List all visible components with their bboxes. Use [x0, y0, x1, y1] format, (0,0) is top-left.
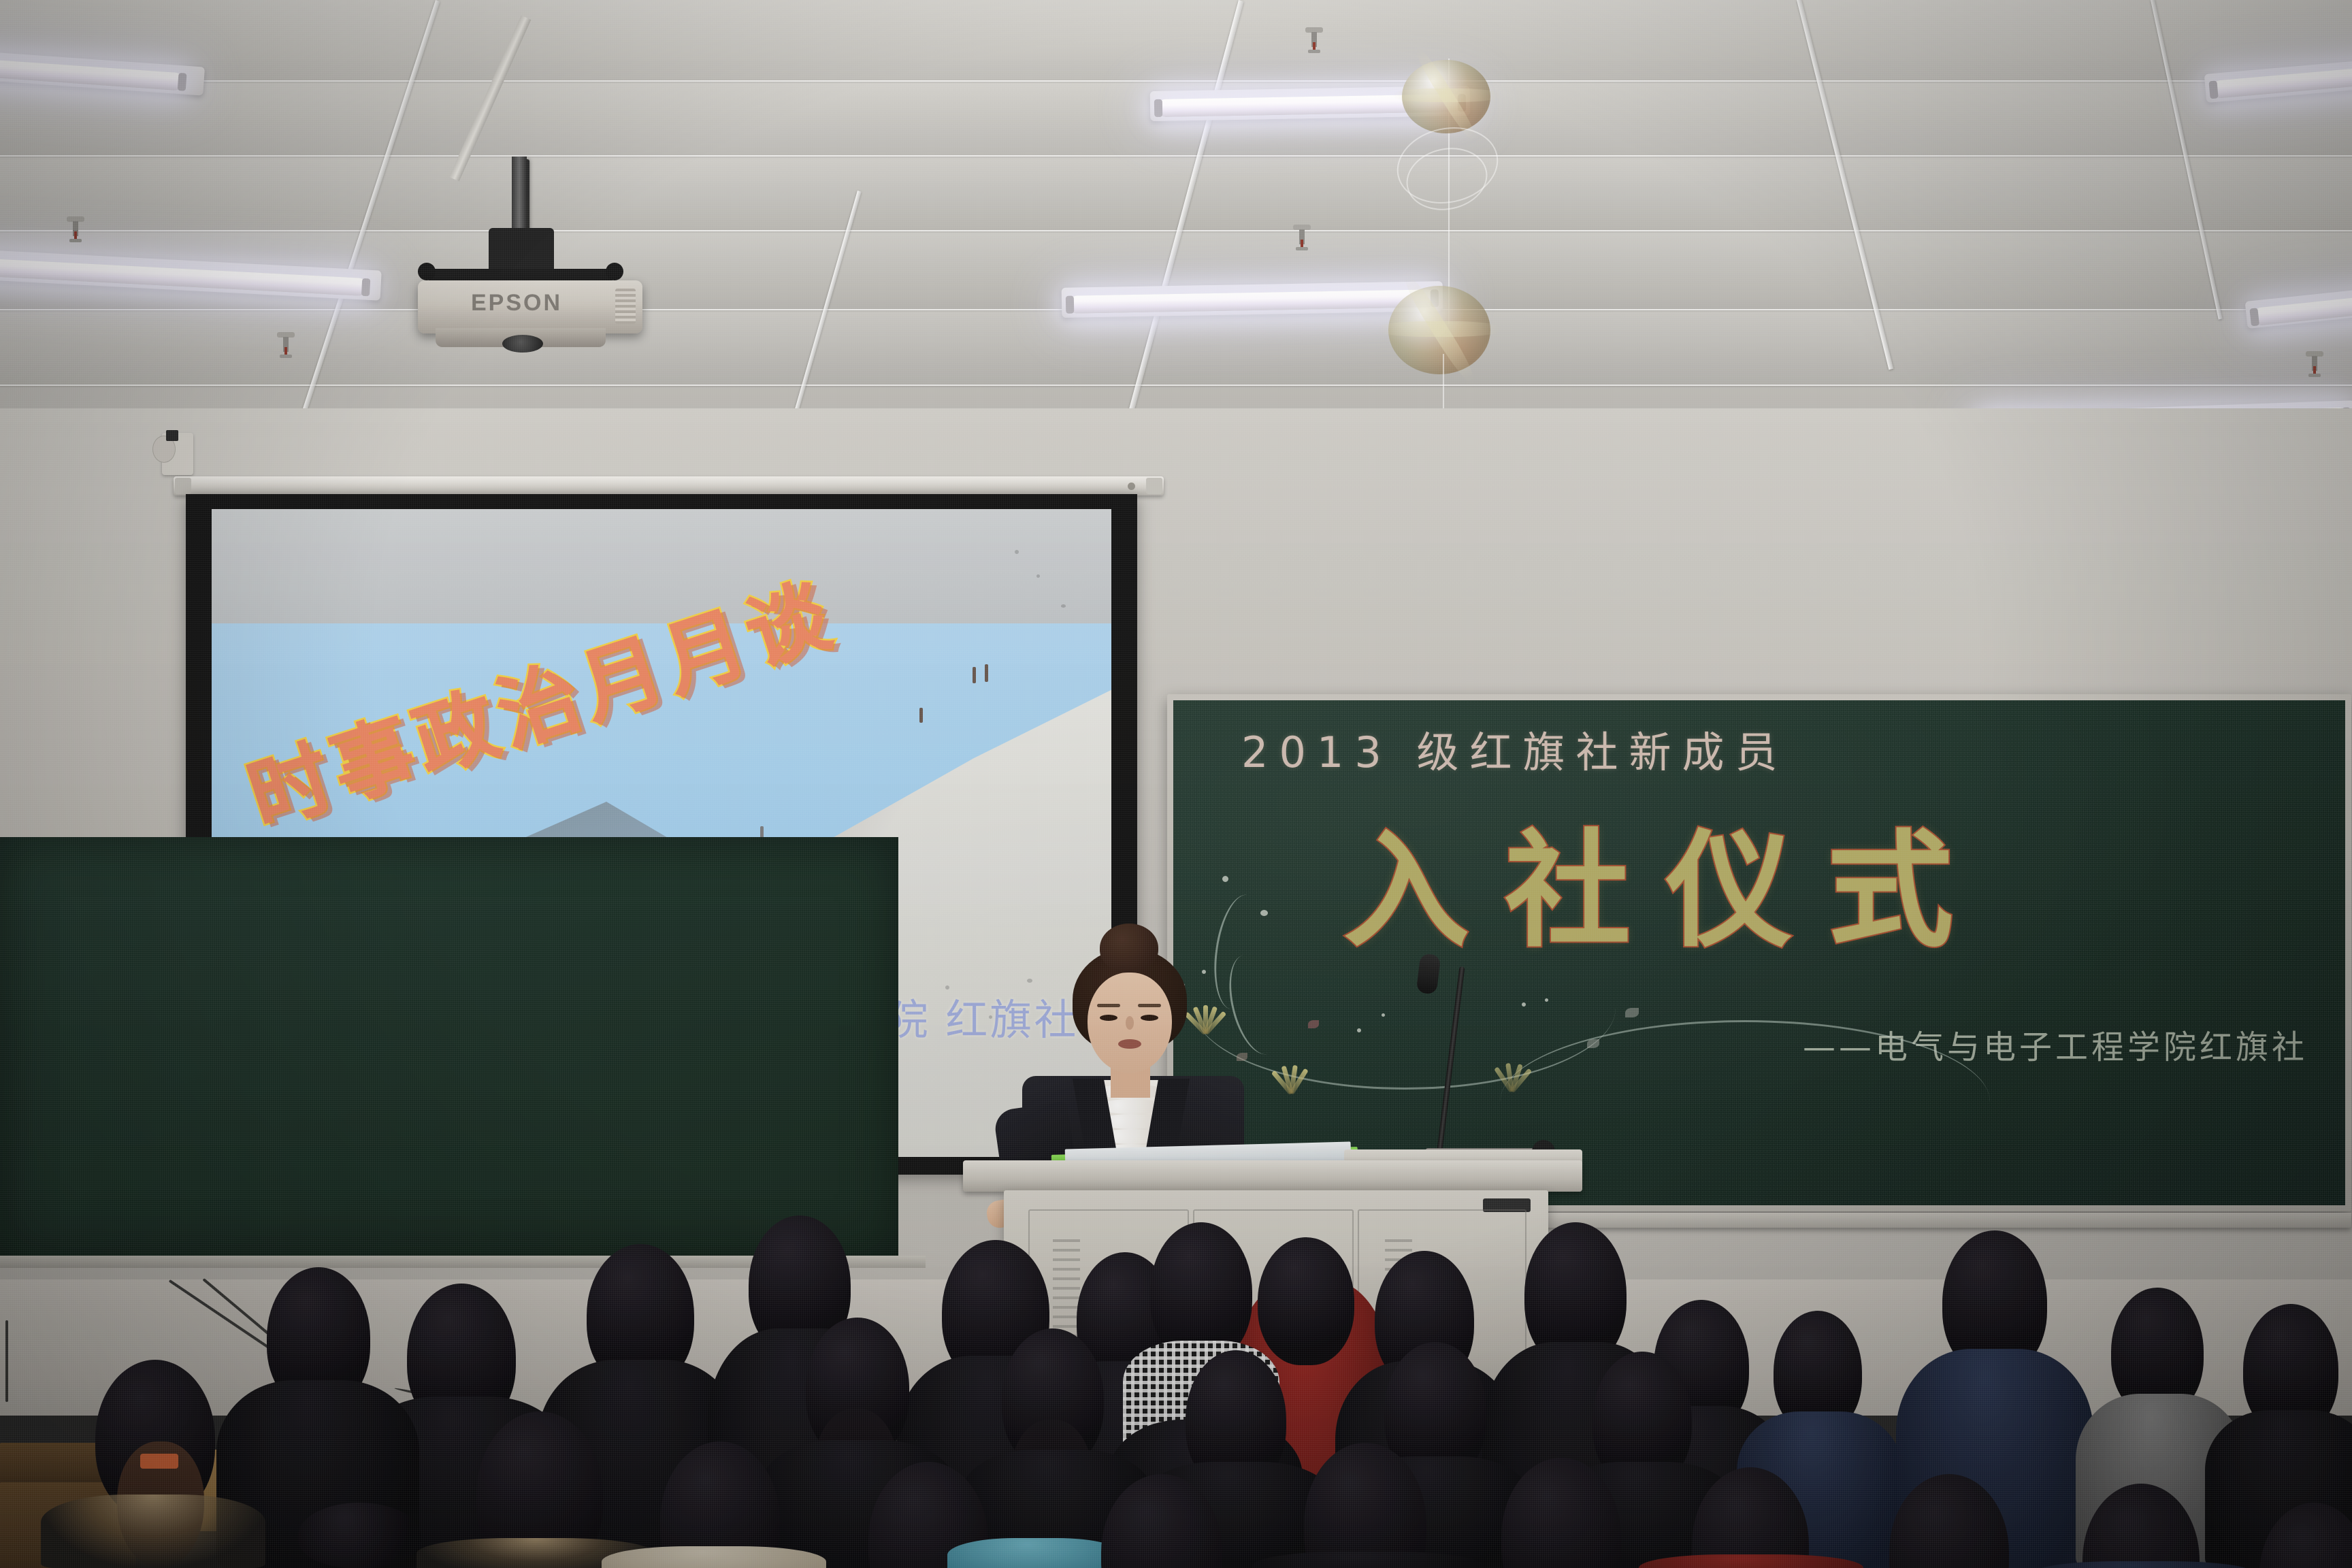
fire-sprinkler-icon	[67, 216, 84, 248]
speaker-hair-bun	[1100, 924, 1158, 973]
audience-body	[41, 1494, 265, 1568]
chalk-flower-decoration	[1260, 1046, 1322, 1094]
screen-mount-bracket	[162, 433, 193, 475]
audience-head	[1258, 1237, 1354, 1365]
hanging-decoration	[1402, 60, 1490, 133]
projector-vent	[615, 289, 636, 324]
ceiling-projector: EPSON	[408, 157, 681, 442]
projector-mount	[489, 228, 554, 274]
audience	[0, 1089, 2352, 1568]
classroom-photo: EPSON	[0, 0, 2352, 1568]
fire-sprinkler-icon	[2306, 351, 2323, 382]
audience-head	[298, 1503, 421, 1568]
fire-sprinkler-icon	[1293, 225, 1311, 256]
projector-brand-label: EPSON	[471, 290, 562, 316]
projector-body: EPSON	[418, 280, 642, 333]
hair-tie	[140, 1454, 178, 1469]
projector-lens	[502, 335, 543, 353]
audience-body	[947, 1538, 1124, 1568]
chalk-flower-decoration	[1481, 1044, 1542, 1092]
fire-sprinkler-icon	[277, 332, 295, 363]
ceiling	[0, 0, 2352, 436]
audience-body	[1252, 1552, 1484, 1568]
blackboard-top-line: 2013 级红旗社新成员	[1241, 718, 1788, 779]
hanging-decoration	[1388, 286, 1490, 374]
fire-sprinkler-icon	[1305, 27, 1323, 59]
blackboard-headline: 入社仪式	[1343, 789, 1989, 971]
screen-roller-casing	[174, 476, 1164, 495]
audience-body	[602, 1546, 826, 1568]
